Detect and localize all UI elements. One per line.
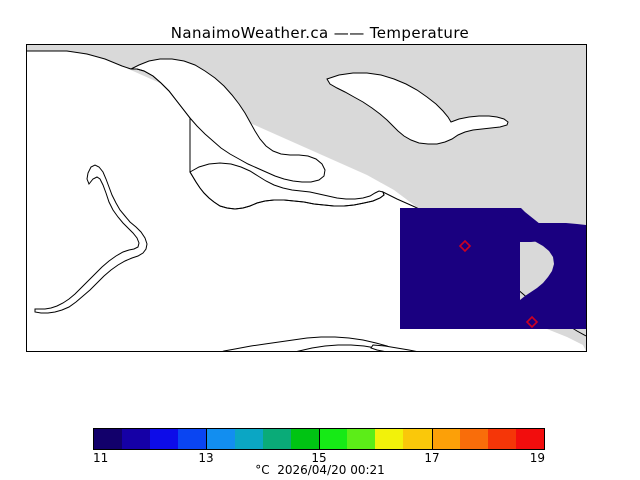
colorbar-swatch-1 [122, 429, 150, 449]
colorbar-swatch-8 [319, 429, 347, 449]
colorbar-swatch-2 [150, 429, 178, 449]
south-island-tail-a [371, 345, 425, 351]
colorbar-swatch-11 [403, 429, 431, 449]
map-frame[interactable] [26, 44, 587, 352]
colorbar-swatch-13 [460, 429, 488, 449]
colorbar-swatch-7 [291, 429, 319, 449]
weather-map-page: NanaimoWeather.ca —— Temperature [0, 0, 640, 480]
colorbar-swatch-4 [207, 429, 235, 449]
colorbar-swatch-3 [178, 429, 206, 449]
colorbar-swatch-9 [347, 429, 375, 449]
colorbar-tick-line-13 [206, 428, 207, 450]
colorbar-swatch-0 [94, 429, 122, 449]
colorbar-swatch-5 [235, 429, 263, 449]
west-island-shape [35, 165, 147, 313]
map-canvas[interactable] [27, 45, 586, 351]
temperature-field-layer [400, 208, 586, 329]
colorbar[interactable] [93, 428, 545, 450]
south-island-outline [207, 337, 425, 351]
colorbar-caption: °C 2026/04/20 00:21 [0, 463, 640, 477]
colorbar-tick-line-17 [432, 428, 433, 450]
colorbar-swatch-10 [375, 429, 403, 449]
colorbar-swatch-14 [488, 429, 516, 449]
colorbar-tick-line-15 [319, 428, 320, 450]
south-island-shape [207, 337, 393, 351]
page-title: NanaimoWeather.ca —— Temperature [0, 24, 640, 42]
colorbar-swatch-12 [432, 429, 460, 449]
colorbar-swatch-15 [516, 429, 544, 449]
colorbar-swatch-6 [263, 429, 291, 449]
west-island-outline [35, 165, 147, 313]
